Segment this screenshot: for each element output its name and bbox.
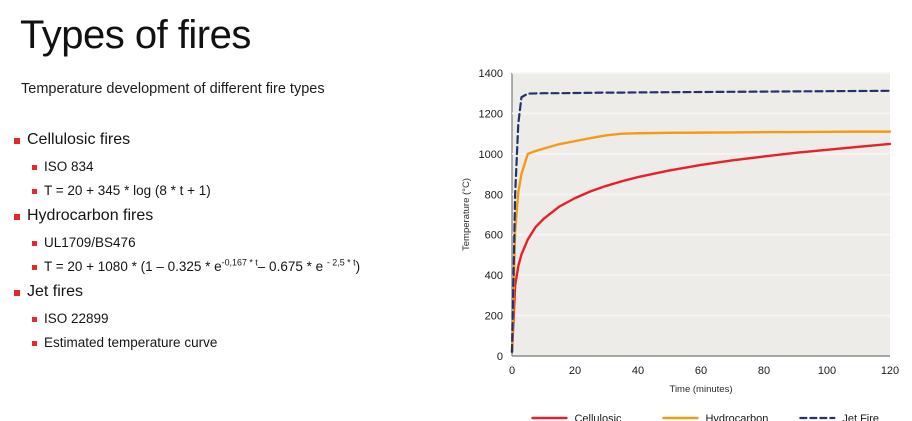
list-item-label: Cellulosic fires [27, 131, 130, 149]
temperature-chart: 0200400600800100012001400020406080100120… [455, 55, 912, 421]
list-item: T = 20 + 345 * log (8 * t + 1) [10, 183, 465, 198]
bullet-square-icon [14, 290, 20, 296]
list-item: ISO 22899 [10, 311, 465, 326]
y-tick-label: 800 [485, 189, 503, 201]
x-tick-label: 20 [569, 365, 581, 377]
y-tick-label: 1000 [479, 149, 503, 161]
legend-label-hydrocarbon: Hydrocarbon [705, 413, 768, 421]
bullet-square-icon [32, 165, 37, 170]
y-tick-label: 200 [485, 311, 503, 323]
chart-legend: CellulosicHydrocarbonJet Fire [532, 413, 879, 421]
list-item-label: Hydrocarbon fires [27, 207, 153, 225]
y-tick-label: 1400 [479, 68, 503, 80]
list-item-label: ISO 834 [44, 159, 94, 174]
formula-suffix: ) [356, 259, 361, 274]
formula-exponent-1: -0,167 * t [222, 258, 258, 268]
list-item-label: ISO 22899 [44, 311, 109, 326]
y-tick-label: 400 [485, 270, 503, 282]
list-item: Hydrocarbon fires [10, 207, 465, 225]
x-axis-label: Time (minutes) [670, 384, 733, 395]
list-item-formula: T = 20 + 1080 * (1 – 0.325 * e-0,167 * t… [10, 259, 465, 274]
hydrocarbon-formula: T = 20 + 1080 * (1 – 0.325 * e-0,167 * t… [44, 259, 360, 274]
chart-plot-area [512, 73, 890, 356]
legend-label-cellulosic: Cellulosic [574, 413, 622, 421]
y-tick-label: 1200 [479, 108, 503, 120]
bullet-square-icon [32, 317, 37, 322]
legend-label-jet-fire: Jet Fire [842, 413, 879, 421]
x-tick-label: 120 [881, 365, 899, 377]
list-item-label: Estimated temperature curve [44, 335, 217, 350]
formula-mid: – 0.675 * e [258, 259, 327, 274]
y-axis-label: Temperature (°C) [461, 178, 472, 251]
bullet-square-icon [32, 265, 37, 270]
x-tick-label: 0 [509, 365, 515, 377]
bullet-square-icon [14, 138, 20, 144]
bullet-square-icon [32, 189, 37, 194]
bullet-square-icon [14, 214, 20, 220]
x-tick-label: 100 [818, 365, 836, 377]
x-tick-label: 80 [758, 365, 770, 377]
bullet-list: Cellulosic fires ISO 834 T = 20 + 345 * … [10, 131, 465, 359]
bullet-square-icon [32, 341, 37, 346]
list-item: ISO 834 [10, 159, 465, 174]
list-item: UL1709/BS476 [10, 235, 465, 250]
text-column: Types of fires Temperature development o… [0, 0, 470, 421]
list-item-label: T = 20 + 345 * log (8 * t + 1) [44, 183, 211, 198]
chart-svg: 0200400600800100012001400020406080100120… [455, 55, 912, 421]
y-tick-label: 600 [485, 230, 503, 242]
list-item-label: Jet fires [27, 283, 83, 301]
page-title: Types of fires [20, 14, 251, 56]
formula-exponent-2: - 2,5 * t [327, 258, 356, 268]
list-item: Cellulosic fires [10, 131, 465, 149]
list-item: Estimated temperature curve [10, 335, 465, 350]
bullet-square-icon [32, 241, 37, 246]
list-item: Jet fires [10, 283, 465, 301]
x-tick-label: 60 [695, 365, 707, 377]
slide-canvas: Types of fires Temperature development o… [0, 0, 912, 421]
page-subtitle: Temperature development of different fir… [21, 81, 325, 97]
formula-prefix: T = 20 + 1080 * (1 – 0.325 * e [44, 259, 222, 274]
x-tick-label: 40 [632, 365, 644, 377]
y-tick-label: 0 [497, 351, 503, 363]
list-item-label: UL1709/BS476 [44, 235, 136, 250]
